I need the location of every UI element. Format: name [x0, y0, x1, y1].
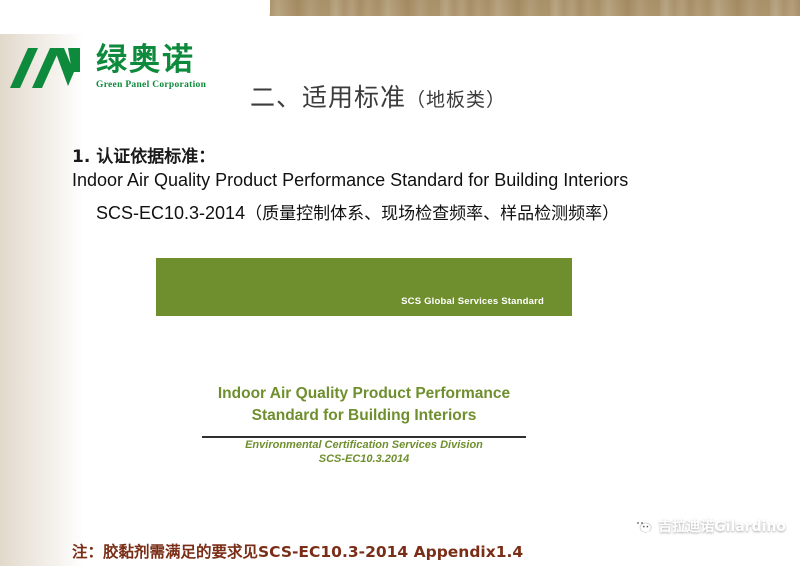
cover-title-line-1: Indoor Air Quality Product Performance: [156, 383, 572, 405]
logo-text: 绿奥诺 Green Panel Corporation: [96, 44, 206, 90]
wechat-icon: [633, 518, 652, 534]
logo-company-en: Green Panel Corporation: [96, 80, 206, 90]
slide-header-tab-right: [248, 16, 800, 38]
standard-code: SCS-EC10.3-2014: [96, 203, 245, 223]
page-title-main: 二、适用标准: [250, 83, 406, 112]
cover-title-line-2: Standard for Building Interiors: [156, 405, 572, 427]
logo-company-cn: 绿奥诺: [96, 44, 206, 77]
lav-green-logo-icon: [8, 42, 86, 94]
cover-subtitle-line-2: SCS-EC10.3.2014: [156, 453, 572, 465]
page-title-paren: （地板类）: [406, 89, 506, 111]
cover-title: Indoor Air Quality Product Performance S…: [156, 383, 572, 428]
body-line-3: SCS-EC10.3-2014（质量控制体系、现场检查频率、样品检测频率）: [96, 199, 619, 224]
page-title: 二、适用标准（地板类）: [250, 78, 506, 114]
cover-band-text: SCS Global Services Standard: [401, 296, 544, 307]
body-line-1: 1. 认证依据标准：: [72, 142, 215, 167]
presentation-slide: 绿奥诺 Green Panel Corporation 二、适用标准（地板类） …: [0, 0, 800, 566]
cover-green-band: SCS Global Services Standard: [156, 258, 572, 316]
cover-divider: [202, 436, 526, 438]
slide-header-tab-left: [0, 0, 270, 34]
cover-subtitle-line-1: Environmental Certification Services Div…: [156, 439, 572, 451]
footer-note: 注：胶黏剂需满足的要求见SCS-EC10.3-2014 Appendix1.4: [72, 540, 523, 562]
body-line-2: Indoor Air Quality Product Performance S…: [72, 170, 628, 191]
standard-note-cn: （质量控制体系、现场检查频率、样品检测频率）: [245, 204, 619, 224]
watermark: 吉拉迪诺Gilardino: [633, 516, 786, 536]
company-logo: 绿奥诺 Green Panel Corporation: [8, 38, 206, 94]
watermark-text: 吉拉迪诺Gilardino: [658, 516, 786, 536]
standard-cover-image: SCS Global Services Standard Indoor Air …: [156, 250, 572, 488]
